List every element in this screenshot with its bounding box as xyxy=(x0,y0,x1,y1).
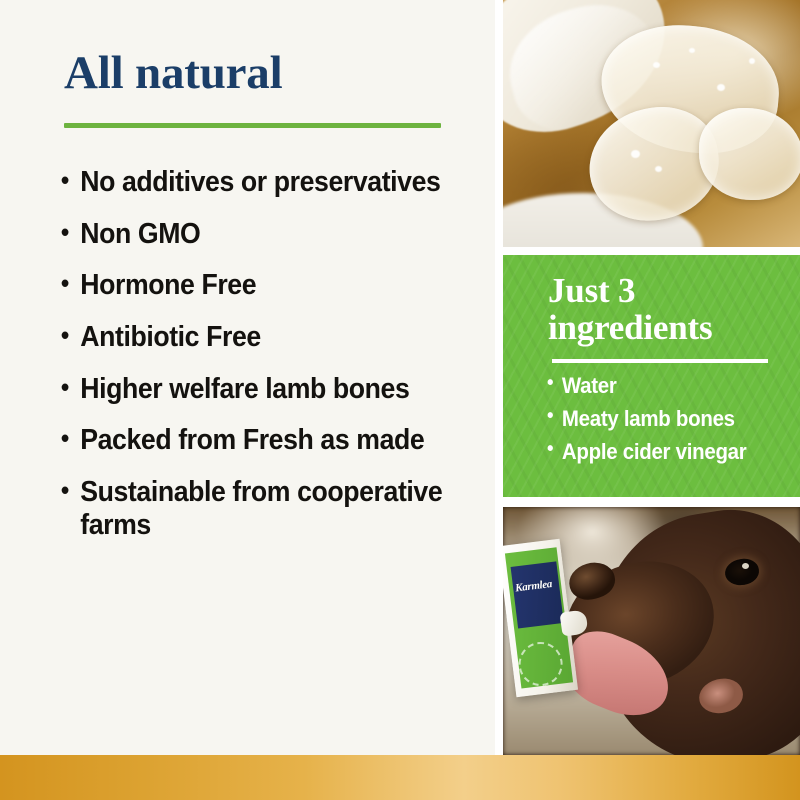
list-item: Meaty lamb bones xyxy=(547,406,780,432)
title-underline-rule xyxy=(64,123,441,128)
jelly-highlight xyxy=(655,166,662,172)
list-item: Non GMO xyxy=(60,218,446,252)
gelatin-chunk xyxy=(699,108,800,200)
jelly-highlight xyxy=(631,150,640,158)
list-item: No additives or preservatives xyxy=(60,166,446,200)
jelly-highlight xyxy=(717,84,725,91)
dog-licking-carton-photo: Karmlea xyxy=(503,507,800,755)
carton-navy-band xyxy=(511,561,564,628)
benefits-list: No additives or preservatives Non GMO Ho… xyxy=(60,166,480,561)
just-3-ingredients-panel: Just 3 ingredients Water Meaty lamb bone… xyxy=(503,255,800,497)
product-feature-poster: All natural No additives or preservative… xyxy=(0,0,800,800)
list-item: Water xyxy=(547,373,780,399)
right-media-column: Just 3 ingredients Water Meaty lamb bone… xyxy=(495,0,800,755)
dog-eye-glint xyxy=(742,563,749,569)
list-item: Apple cider vinegar xyxy=(547,439,780,465)
jelly-highlight xyxy=(749,58,755,64)
ingredients-underline-rule xyxy=(552,359,768,363)
list-item: Hormone Free xyxy=(60,269,446,303)
bottom-gold-bar xyxy=(0,755,800,800)
bone-broth-jelly-photo xyxy=(503,0,800,247)
page-title: All natural xyxy=(64,50,282,97)
ingredients-list: Water Meaty lamb bones Apple cider vineg… xyxy=(547,373,797,472)
jelly-highlight xyxy=(653,62,660,68)
list-item: Packed from Fresh as made xyxy=(60,424,446,458)
list-item: Antibiotic Free xyxy=(60,321,446,355)
jelly-highlight xyxy=(689,48,695,53)
list-item: Sustainable from cooperative farms xyxy=(60,476,446,543)
all-natural-panel: All natural No additives or preservative… xyxy=(0,0,495,755)
list-item: Higher welfare lamb bones xyxy=(60,373,446,407)
ingredients-heading: Just 3 ingredients xyxy=(548,272,778,346)
